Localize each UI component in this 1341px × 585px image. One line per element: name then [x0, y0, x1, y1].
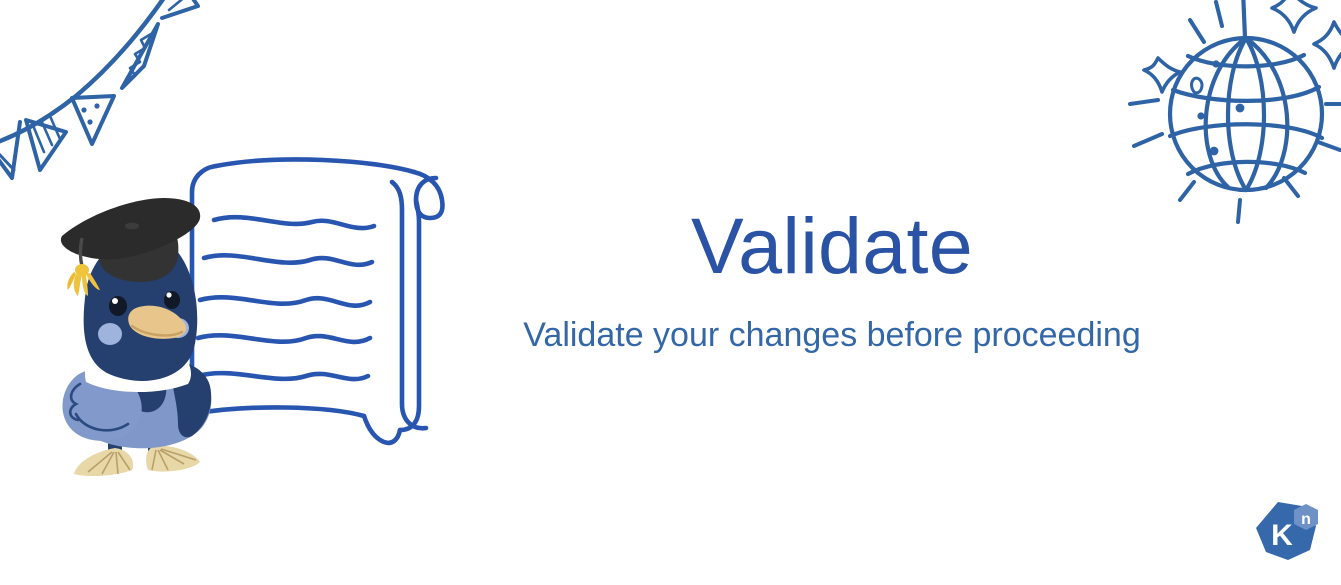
bird-cheek-right: [167, 318, 189, 338]
party-bunting-icon: [0, 0, 244, 192]
bird-feet: [74, 434, 200, 476]
bird-wing: [62, 369, 141, 440]
bird-head: [84, 234, 198, 381]
bird-eye-left: [109, 296, 127, 316]
bird-body: [71, 359, 211, 448]
logo-letter-k: K: [1271, 519, 1293, 552]
graduation-cap: [61, 198, 200, 296]
kn-logo: K n: [1252, 500, 1324, 570]
text-block: Validate Validate your changes before pr…: [462, 205, 1202, 356]
graduate-bird-mascot: [52, 186, 237, 476]
bird-cheek-left: [98, 323, 122, 345]
logo-letter-n: n: [1301, 511, 1311, 528]
diploma-scroll-icon: [178, 138, 474, 463]
bird-eye-right: [164, 291, 180, 309]
page-title: Validate: [462, 205, 1202, 288]
bird-beak: [128, 306, 186, 339]
bird-collar: [85, 362, 191, 392]
disco-ball-icon: [1118, 0, 1341, 231]
slide-canvas: Validate Validate your changes before pr…: [0, 0, 1341, 585]
page-subtitle: Validate your changes before proceeding: [462, 314, 1202, 357]
